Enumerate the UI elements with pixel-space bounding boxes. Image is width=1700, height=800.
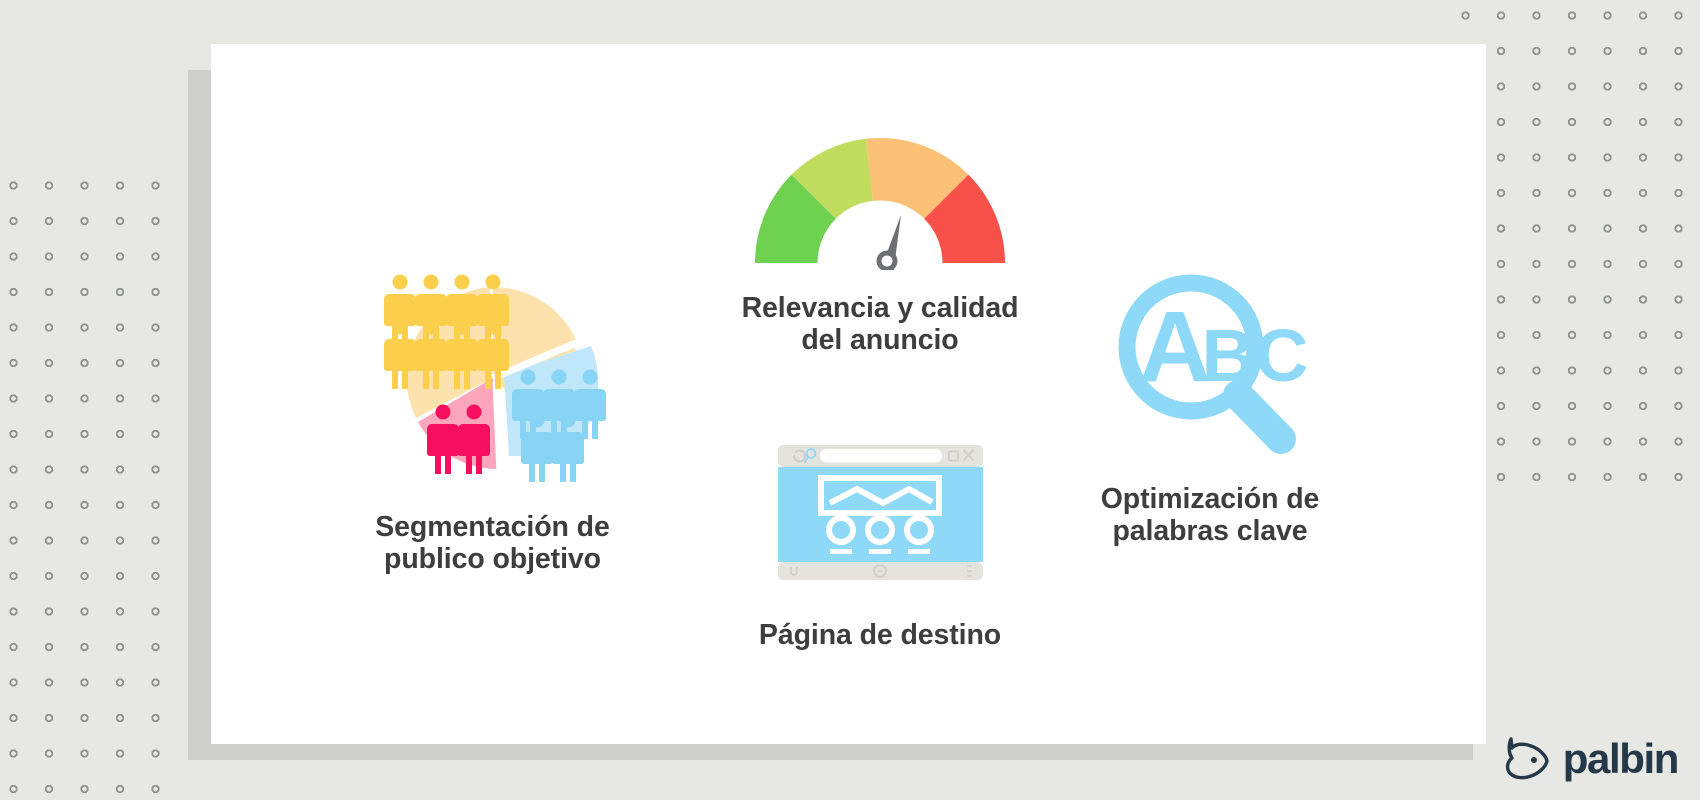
panel-keywords: A BC Optimización de palabras clave <box>960 265 1460 547</box>
magnifier-abc-icon-wrap: A BC <box>960 265 1460 465</box>
caption-bar <box>830 549 852 554</box>
background-dot-pattern-left <box>8 180 183 800</box>
browser-window-icon <box>778 445 983 585</box>
gauge-speedometer-icon-wrap <box>600 120 1160 270</box>
address-bar <box>820 449 942 463</box>
magnifier-letters-bc: BC <box>1201 314 1308 397</box>
palbin-logo: palbin <box>1498 736 1678 782</box>
magnifier-handle <box>1238 395 1281 439</box>
caption-bar <box>908 549 930 554</box>
panel-landing-label: Página de destino <box>640 619 1120 651</box>
palbin-wordmark: palbin <box>1563 738 1678 780</box>
panel-keywords-label: Optimización de palabras clave <box>960 483 1460 547</box>
pie-chart-people-icon <box>378 270 608 485</box>
palbin-fish-icon <box>1498 736 1554 782</box>
magnifier-letter-a: A <box>1138 291 1210 403</box>
background-dot-pattern-right <box>1460 10 1700 490</box>
caption-bar <box>869 549 891 554</box>
gauge-speedometer-icon <box>750 120 1010 270</box>
gauge-hub-center <box>882 256 893 267</box>
magnifier-abc-icon: A BC <box>1103 265 1318 465</box>
